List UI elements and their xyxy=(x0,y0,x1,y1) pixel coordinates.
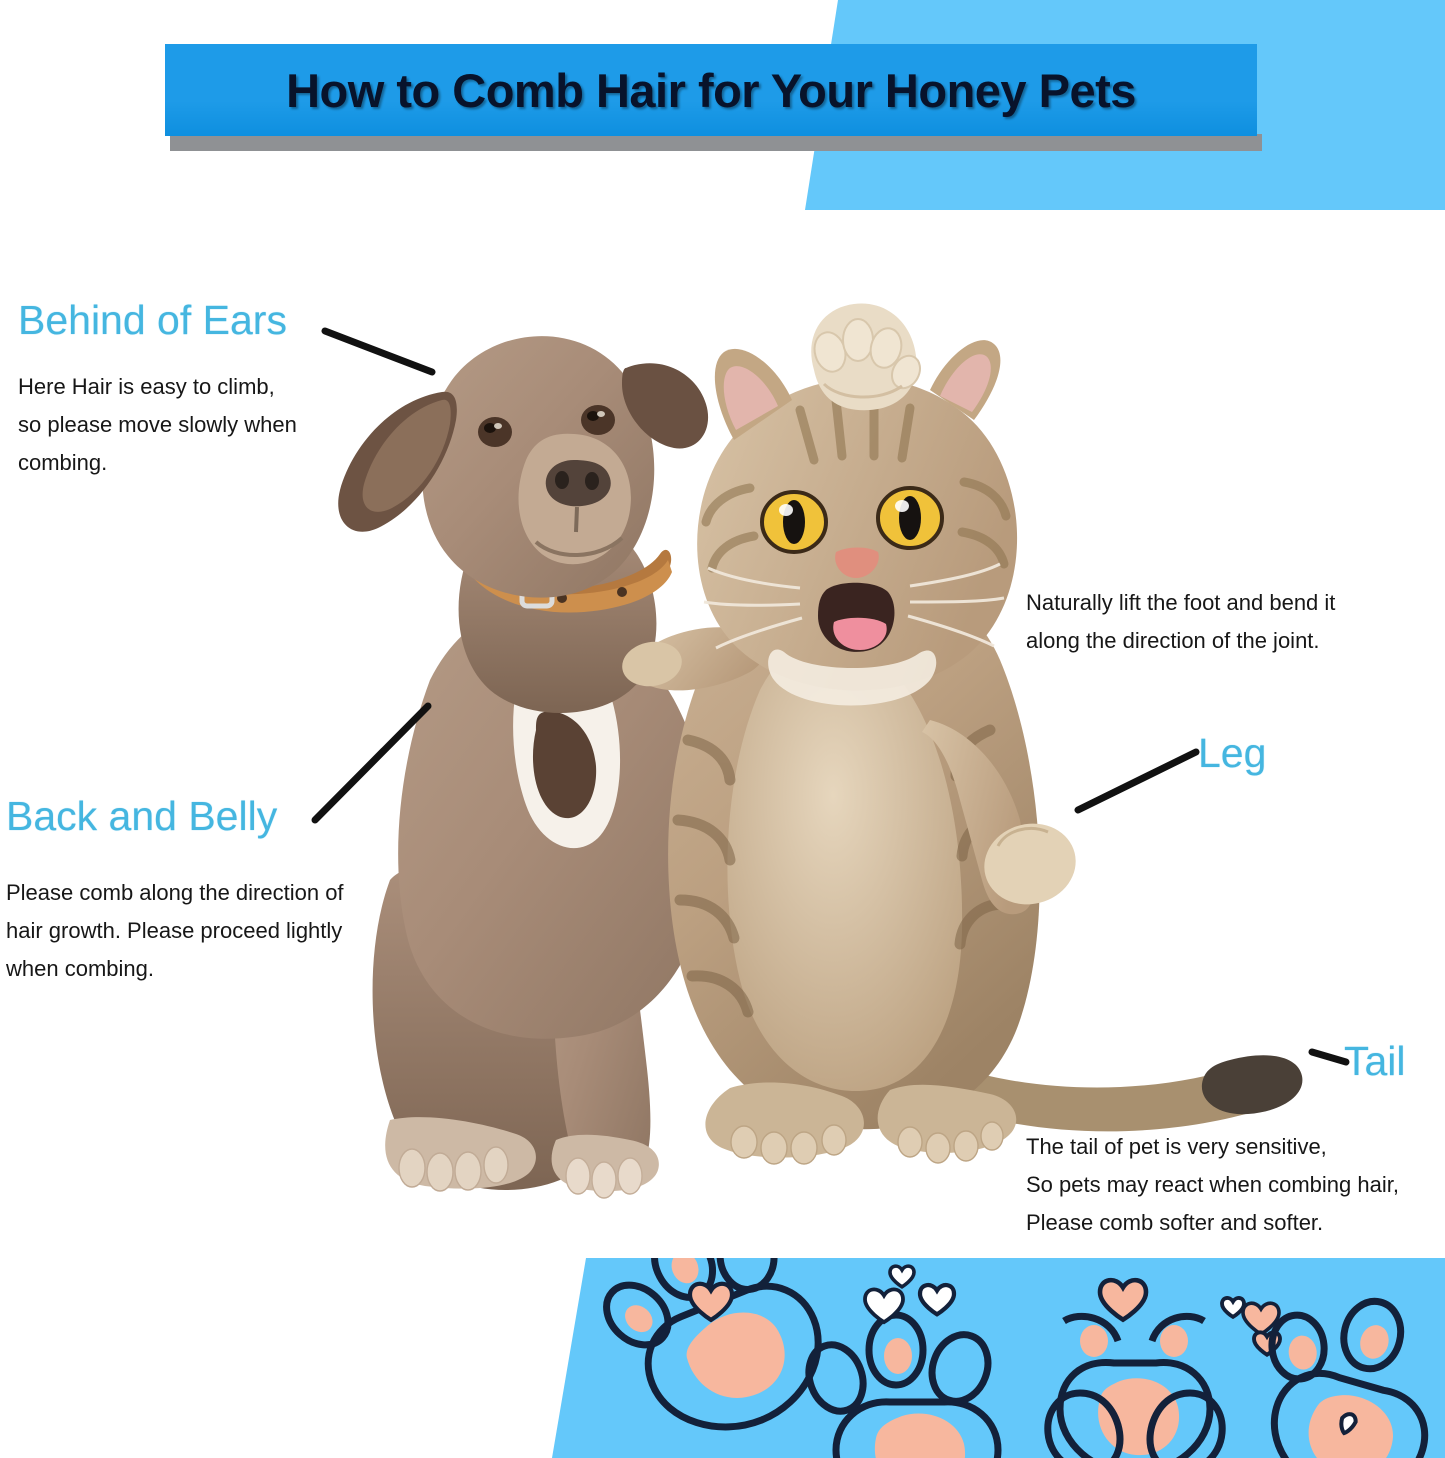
callout-line: Naturally lift the foot and bend it xyxy=(1026,584,1335,622)
dog-figure xyxy=(338,336,708,1198)
bottom-paw-banner xyxy=(0,1258,1445,1458)
paw-banner-art xyxy=(0,1258,1445,1458)
callout-line: Please comb along the direction of xyxy=(6,874,344,912)
callout-line: Please comb softer and softer. xyxy=(1026,1204,1399,1242)
title-banner: How to Comb Hair for Your Honey Pets xyxy=(165,44,1257,136)
callout-body-foot-joint: Naturally lift the foot and bend it alon… xyxy=(1026,584,1335,660)
page-title: How to Comb Hair for Your Honey Pets xyxy=(286,63,1136,118)
callout-line: so please move slowly when xyxy=(18,406,297,444)
title-banner-shadow xyxy=(170,134,1262,151)
callout-body-back-and-belly: Please comb along the direction of hair … xyxy=(6,874,344,987)
callout-line: Here Hair is easy to climb, xyxy=(18,368,297,406)
cat-left-eye xyxy=(762,492,826,552)
infographic-page: How to Comb Hair for Your Honey Pets xyxy=(0,0,1445,1458)
callout-title-tail: Tail xyxy=(1344,1038,1406,1085)
cat-right-eye xyxy=(878,488,942,548)
callout-line: combing. xyxy=(18,444,297,482)
callout-line: along the direction of the joint. xyxy=(1026,622,1335,660)
callout-line: hair growth. Please proceed lightly xyxy=(6,912,344,950)
callout-line: So pets may react when combing hair, xyxy=(1026,1166,1399,1204)
callout-title-leg: Leg xyxy=(1198,730,1266,777)
callout-line: The tail of pet is very sensitive, xyxy=(1026,1128,1399,1166)
callout-title-behind-of-ears: Behind of Ears xyxy=(18,297,287,344)
callout-body-tail: The tail of pet is very sensitive, So pe… xyxy=(1026,1128,1399,1241)
callout-line: when combing. xyxy=(6,950,344,988)
callout-title-back-and-belly: Back and Belly xyxy=(6,793,277,840)
callout-body-behind-of-ears: Here Hair is easy to climb, so please mo… xyxy=(18,368,297,481)
